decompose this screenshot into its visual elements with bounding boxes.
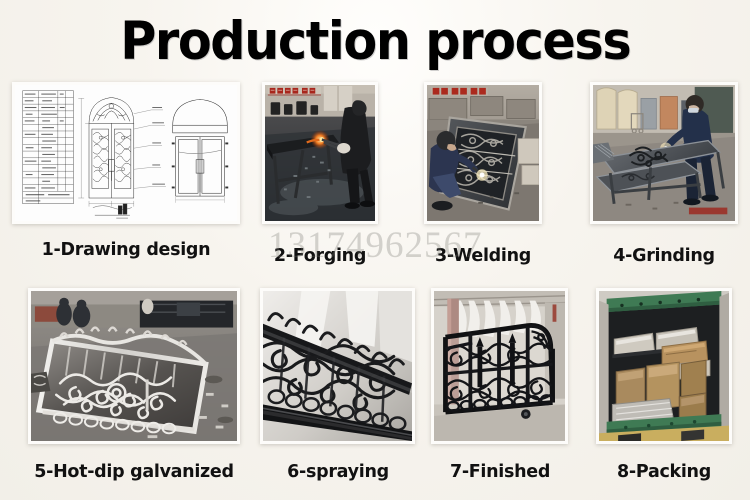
- worker-forging-hot-metal-bar-on-bench: [265, 85, 375, 221]
- step-4-photo: [590, 82, 738, 224]
- step-5-photo: [28, 288, 240, 444]
- step-7-photo: [431, 288, 568, 444]
- crates-loaded-in-shipping-container: [599, 291, 729, 441]
- step-7-caption: 7-Finished: [425, 462, 575, 482]
- page-title: Production process: [120, 11, 630, 72]
- step-3-caption: 3-Welding: [420, 246, 546, 266]
- step-8-photo: [596, 288, 732, 444]
- poster-title-container: Production process: [0, 6, 750, 76]
- step-8-caption: 8-Packing: [590, 462, 738, 482]
- finished-black-wrought-iron-gate-standing: [434, 291, 565, 441]
- step-4-caption: 4-Grinding: [590, 246, 738, 266]
- production-process-poster: Production process: [0, 0, 750, 500]
- step-6-photo: [260, 288, 415, 444]
- step-5-caption: 5-Hot-dip galvanized: [20, 462, 248, 482]
- galvanized-silver-scrollwork-gate-panel: [31, 291, 237, 441]
- step-3-photo: [424, 82, 542, 224]
- step-1-caption: 1-Drawing design: [12, 240, 240, 260]
- black-sprayed-gate-closeup-diagonal: [263, 291, 412, 441]
- technical-drawing-of-ornate-iron-door: [15, 85, 237, 221]
- step-2-caption: 2-Forging: [258, 246, 382, 266]
- step-6-caption: 6-spraying: [255, 462, 421, 482]
- worker-kneeling-welding-gate-panel: [427, 85, 539, 221]
- step-2-photo: [262, 82, 378, 224]
- worker-grinding-gate-panel-on-workbench: [593, 85, 735, 221]
- step-1-photo: [12, 82, 240, 224]
